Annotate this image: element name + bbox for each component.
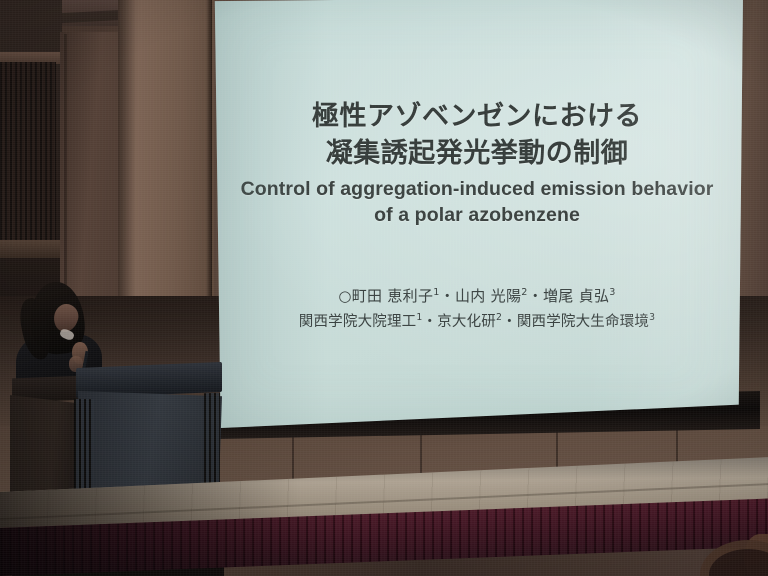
presenter-marker: ○ <box>338 287 351 305</box>
author-separator-2: ・ <box>528 287 543 305</box>
slide-author-line: ○町田 恵利子1・山内 光陽2・増尾 貞弘3 <box>222 285 732 308</box>
affiliation-2: 京大化研 <box>437 314 496 330</box>
author-3-name: 増尾 貞弘 <box>543 287 609 305</box>
projection-screen: 極性アゾベンゼンにおける 凝集誘起発光挙動の制御 Control of aggr… <box>210 0 758 440</box>
slide-title-english-line2: of a polar azobenzene <box>222 203 732 229</box>
author-2-name: 山内 光陽 <box>455 287 521 305</box>
affiliation-1: 関西学院大院理工 <box>299 314 417 330</box>
affiliation-3-ref: 3 <box>649 312 655 323</box>
affiliation-separator-1: ・ <box>422 314 437 330</box>
wooden-slat-panel <box>0 62 56 247</box>
pillar-shadow <box>118 0 136 300</box>
slide-title-japanese-line2: 凝集誘起発光挙動の制御 <box>222 137 732 172</box>
alcove-sill <box>0 240 62 258</box>
affiliation-3: 関西学院大生命環境 <box>517 314 649 330</box>
affiliation-separator-2: ・ <box>502 314 517 330</box>
slide-title-english-line1: Control of aggregation-induced emission … <box>222 177 732 203</box>
conference-room-photo: 極性アゾベンゼンにおける 凝集誘起発光挙動の制御 Control of aggr… <box>0 0 768 576</box>
author-separator-1: ・ <box>440 287 455 305</box>
presentation-slide: 極性アゾベンゼンにおける 凝集誘起発光挙動の制御 Control of aggr… <box>210 0 743 428</box>
slide-affiliation-line: 関西学院大院理工1・京大化研2・関西学院大生命環境3 <box>222 311 732 334</box>
author-1-name: 町田 恵利子 <box>352 287 434 305</box>
slide-title-japanese-line1: 極性アゾベンゼンにおける <box>222 100 732 135</box>
author-3-affiliation-ref: 3 <box>609 287 615 298</box>
